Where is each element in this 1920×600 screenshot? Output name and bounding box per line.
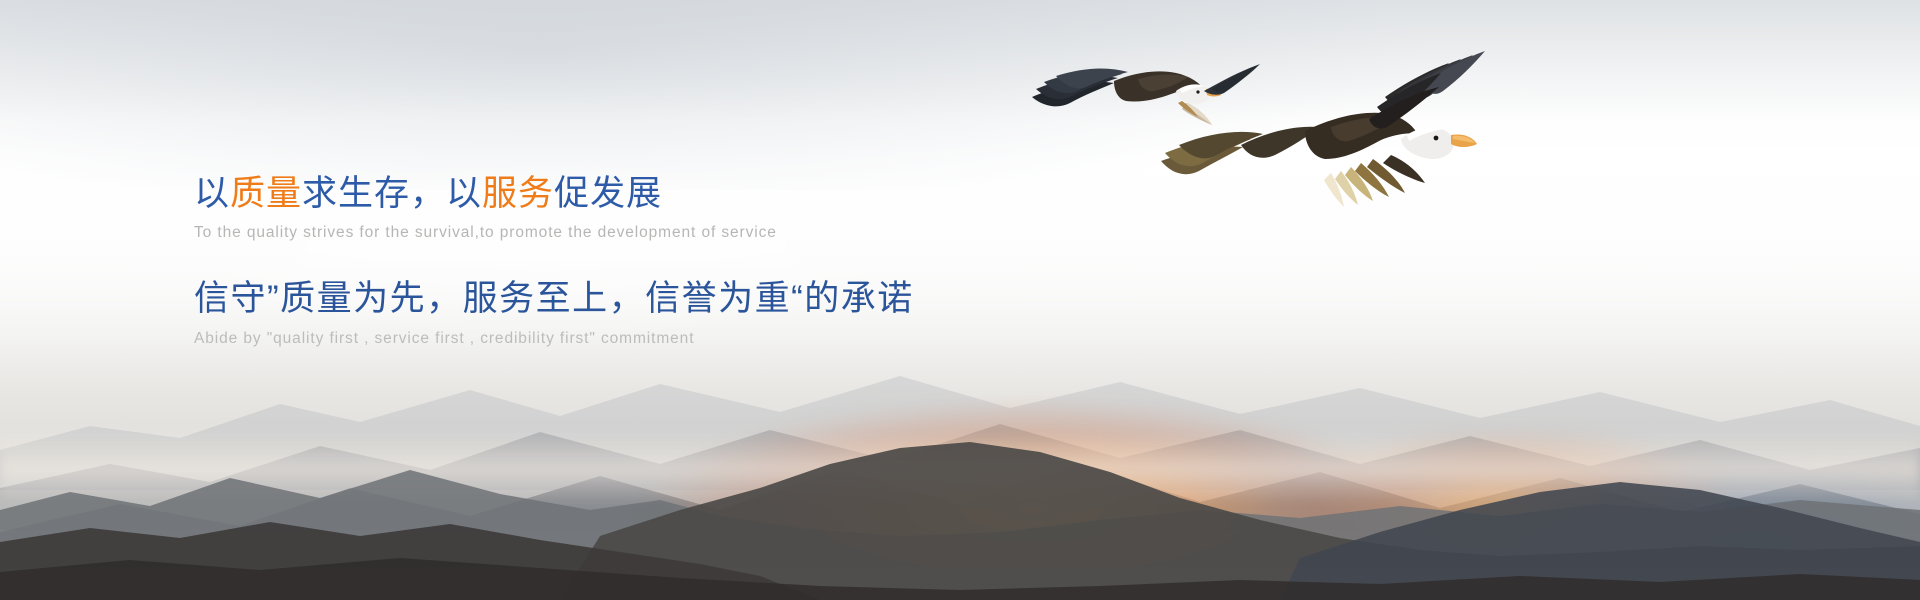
slogan-1-headline: 以质量求生存，以服务促发展 [194,172,1094,216]
slogan-2-subtitle: Abide by "quality first , service first … [194,330,1094,348]
slogan-1-seg-1-highlight: 质量 [230,174,302,213]
slogan-row-2: 信守”质量为先，服务至上，信誉为重“的承诺 Abide by "quality … [194,277,1094,348]
slogan-1-seg-2: 求生存，以 [302,174,482,213]
slogan-1-seg-3-highlight: 服务 [482,174,554,213]
slogan-1-subtitle: To the quality strives for the survival,… [194,224,1094,242]
eagle-lower-icon [1155,35,1495,250]
slogan-block: 以质量求生存，以服务促发展 To the quality strives for… [194,172,1094,348]
slogan-1-seg-4: 促发展 [554,174,662,213]
slogan-row-1: 以质量求生存，以服务促发展 To the quality strives for… [194,172,1094,242]
sky-haze-cloud [0,0,1920,190]
foreground-mountains [0,360,1920,600]
hero-banner: 以质量求生存，以服务促发展 To the quality strives for… [0,0,1920,600]
slogan-1-seg-0: 以 [194,174,230,213]
slogan-2-headline: 信守”质量为先，服务至上，信誉为重“的承诺 [194,277,1094,321]
